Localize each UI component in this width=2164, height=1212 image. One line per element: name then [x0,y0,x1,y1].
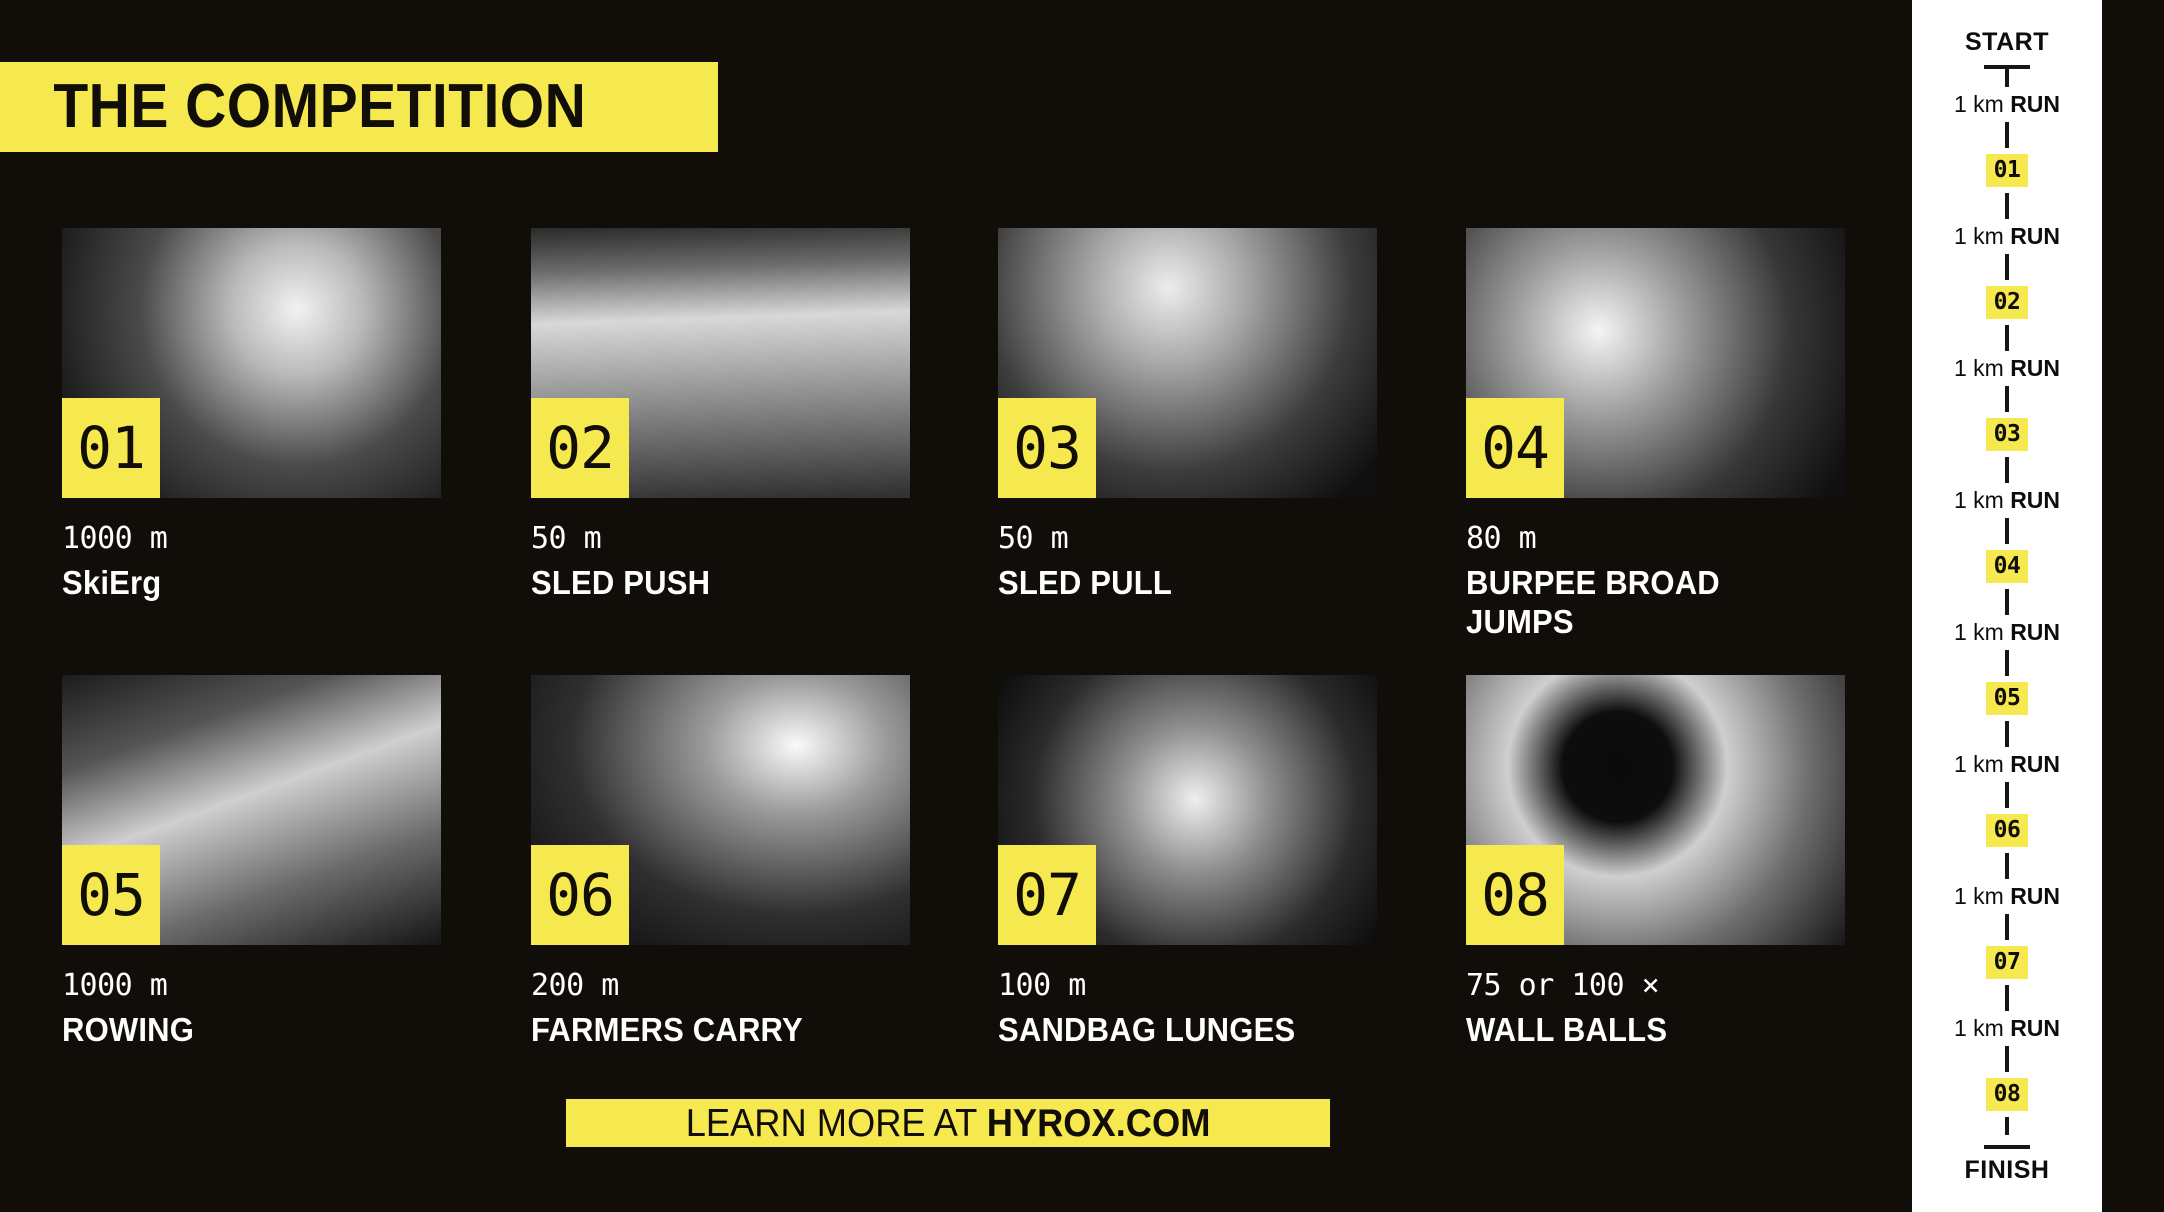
exercise-photo-frame: 03 [998,228,1377,498]
timeline-connector [2005,122,2009,148]
timeline-connector [2005,518,2009,544]
timeline-station-01[interactable]: 01 [1986,154,2028,187]
timeline-station-06[interactable]: 06 [1986,814,2028,847]
exercise-photo-frame: 04 [1466,228,1845,498]
exercise-number: 08 [1481,866,1549,924]
exercise-meta: 200 mFARMERS CARRY [531,967,910,1049]
timeline-station-number: 03 [1994,423,2021,446]
timeline-station-number: 04 [1994,555,2021,578]
timeline-connector [2005,457,2009,483]
timeline-station-number: 06 [1994,819,2021,842]
timeline-connector [2005,325,2009,351]
exercise-name: ROWING [62,1010,418,1050]
exercise-number-badge: 04 [1466,398,1564,498]
exercise-meta: 100 mSANDBAG LUNGES [998,967,1377,1049]
exercise-number: 04 [1481,419,1549,477]
exercise-photo-frame: 06 [531,675,910,945]
run-word: RUN [2010,751,2060,777]
timeline-connector [2005,985,2009,1011]
timeline-connector [2005,914,2009,940]
exercise-distance: 50 m [531,520,910,558]
timeline-connector [2005,650,2009,676]
timeline-run-leg: 1 km RUN [1954,225,2060,248]
exercise-meta: 80 mBURPEE BROAD JUMPS [1466,520,1845,642]
timeline-run-leg: 1 km RUN [1954,357,2060,380]
exercise-meta: 50 mSLED PUSH [531,520,910,602]
timeline-connector [2005,721,2009,747]
run-word: RUN [2010,619,2060,645]
run-distance: 1 km [1954,487,2010,513]
page-title-banner: THE COMPETITION [0,62,718,152]
exercise-name: SLED PULL [998,563,1354,603]
timeline-station-number: 01 [1994,159,2021,182]
exercise-distance: 1000 m [62,520,441,558]
exercise-card[interactable]: 06200 mFARMERS CARRY [531,675,910,1049]
exercise-number-badge: 02 [531,398,629,498]
timeline-connector [2005,1046,2009,1072]
exercise-photo-frame: 08 [1466,675,1845,945]
timeline-station-08[interactable]: 08 [1986,1078,2028,1111]
exercise-name: SANDBAG LUNGES [998,1010,1354,1050]
exercise-number-badge: 06 [531,845,629,945]
exercise-photo-frame: 05 [62,675,441,945]
exercise-meta: 50 mSLED PULL [998,520,1377,602]
exercise-grid: 011000 mSkiErg0250 mSLED PUSH0350 mSLED … [62,228,1846,1028]
exercise-card[interactable]: 0875 or 100 ×WALL BALLS [1466,675,1845,1049]
timeline-station-number: 07 [1994,951,2021,974]
hyrox-competition-infographic: THE COMPETITION 011000 mSkiErg0250 mSLED… [0,0,2164,1212]
timeline-station-02[interactable]: 02 [1986,286,2028,319]
learn-more-label: LEARN MORE AT HYROX.COM [686,1104,1211,1143]
timeline-connector [2005,1117,2009,1135]
timeline-finish-label: FINISH [1965,1158,2050,1183]
timeline-run-leg: 1 km RUN [1954,93,2060,116]
timeline-run-leg: 1 km RUN [1954,885,2060,908]
run-distance: 1 km [1954,223,2010,249]
exercise-distance: 200 m [531,967,910,1005]
exercise-distance: 50 m [998,520,1377,558]
timeline-finish-cap [1984,1145,2030,1149]
run-word: RUN [2010,1015,2060,1041]
timeline-start-label: START [1965,30,2049,55]
timeline-station-number: 02 [1994,291,2021,314]
run-distance: 1 km [1954,91,2010,117]
exercise-name: SLED PUSH [531,563,887,603]
exercise-number-badge: 01 [62,398,160,498]
timeline-station-03[interactable]: 03 [1986,418,2028,451]
exercise-photo-frame: 01 [62,228,441,498]
timeline-run-leg: 1 km RUN [1954,621,2060,644]
exercise-photo-frame: 02 [531,228,910,498]
exercise-number-badge: 08 [1466,845,1564,945]
exercise-name: SkiErg [62,563,418,603]
exercise-number: 05 [77,866,145,924]
exercise-meta: 75 or 100 ×WALL BALLS [1466,967,1845,1049]
timeline-station-04[interactable]: 04 [1986,550,2028,583]
run-distance: 1 km [1954,883,2010,909]
exercise-card[interactable]: 051000 mROWING [62,675,441,1049]
exercise-number: 06 [546,866,614,924]
run-word: RUN [2010,355,2060,381]
run-word: RUN [2010,883,2060,909]
run-distance: 1 km [1954,355,2010,381]
exercise-card[interactable]: 011000 mSkiErg [62,228,441,602]
exercise-card[interactable]: 0480 mBURPEE BROAD JUMPS [1466,228,1845,642]
timeline-connector [2005,853,2009,879]
exercise-card[interactable]: 0250 mSLED PUSH [531,228,910,602]
exercise-distance: 80 m [1466,520,1845,558]
timeline-connector [2005,782,2009,808]
exercise-photo-frame: 07 [998,675,1377,945]
exercise-meta: 1000 mSkiErg [62,520,441,602]
exercise-name: BURPEE BROAD JUMPS [1466,563,1822,642]
exercise-distance: 75 or 100 × [1466,967,1845,1005]
exercise-card[interactable]: 07100 mSANDBAG LUNGES [998,675,1377,1049]
timeline-connector [2005,386,2009,412]
timeline-connector [2005,69,2009,87]
timeline-connector [2005,193,2009,219]
exercise-number-badge: 03 [998,398,1096,498]
timeline-run-leg: 1 km RUN [1954,489,2060,512]
exercise-distance: 100 m [998,967,1377,1005]
exercise-number: 07 [1013,866,1081,924]
exercise-meta: 1000 mROWING [62,967,441,1049]
timeline-station-number: 08 [1994,1083,2021,1106]
timeline-connector [2005,589,2009,615]
learn-more-lead: LEARN MORE AT [686,1102,987,1145]
timeline-station-07[interactable]: 07 [1986,946,2028,979]
timeline-station-number: 05 [1994,687,2021,710]
exercise-distance: 1000 m [62,967,441,1005]
exercise-number: 03 [1013,419,1081,477]
timeline-connector [2005,254,2009,280]
timeline-run-leg: 1 km RUN [1954,1017,2060,1040]
run-word: RUN [2010,223,2060,249]
page-title: THE COMPETITION [0,76,586,138]
timeline-run-leg: 1 km RUN [1954,753,2060,776]
run-distance: 1 km [1954,619,2010,645]
learn-more-domain: HYROX.COM [987,1102,1211,1145]
exercise-number-badge: 07 [998,845,1096,945]
exercise-name: WALL BALLS [1466,1010,1822,1050]
learn-more-banner[interactable]: LEARN MORE AT HYROX.COM [566,1099,1330,1147]
exercise-number-badge: 05 [62,845,160,945]
run-word: RUN [2010,487,2060,513]
race-timeline: START1 km RUN011 km RUN021 km RUN031 km … [1912,0,2102,1212]
exercise-card[interactable]: 0350 mSLED PULL [998,228,1377,602]
run-distance: 1 km [1954,1015,2010,1041]
run-word: RUN [2010,91,2060,117]
exercise-number: 02 [546,419,614,477]
race-timeline-sidebar: START1 km RUN011 km RUN021 km RUN031 km … [1912,0,2102,1212]
exercise-name: FARMERS CARRY [531,1010,887,1050]
run-distance: 1 km [1954,751,2010,777]
timeline-station-05[interactable]: 05 [1986,682,2028,715]
exercise-number: 01 [77,419,145,477]
